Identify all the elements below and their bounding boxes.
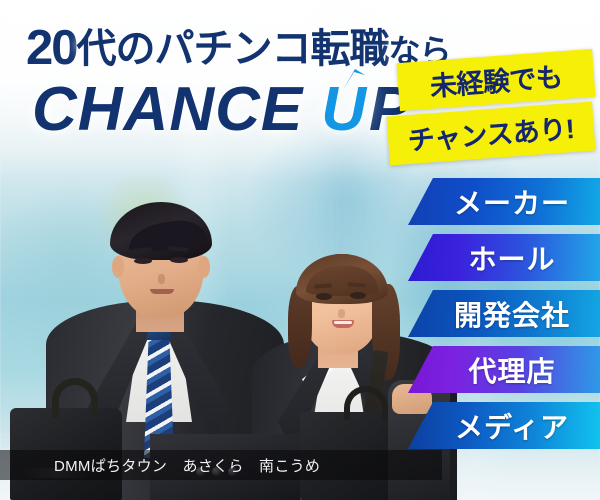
man-eye-left	[134, 258, 152, 264]
man-ear-left	[112, 256, 124, 278]
callout-badges: 未経験でも チャンスあり!	[388, 56, 594, 158]
woman-teeth	[334, 321, 352, 324]
headline: 20代のパチンコ転職なら	[26, 16, 451, 76]
logo-letter-u-group: U	[321, 74, 367, 145]
chance-up-recruitment-banner[interactable]: 20代のパチンコ転職なら CHANCE U P 未経験でも チャンスあり! メー…	[0, 0, 600, 500]
business-bag-left-handle	[52, 378, 98, 418]
category-label: メディア	[455, 406, 569, 446]
woman-eye-left	[316, 293, 332, 300]
logo-letter-u: U	[321, 75, 367, 144]
woman-eye-right	[350, 292, 366, 299]
category-label: 開発会社	[454, 294, 570, 334]
category-button-media[interactable]: メディア	[408, 402, 600, 449]
headline-number: 20	[26, 21, 77, 75]
category-button-hall[interactable]: ホール	[408, 234, 600, 281]
credit-text: DMMぱちタウン あさくら 南こうめ	[0, 455, 320, 476]
category-label: ホール	[468, 238, 555, 278]
job-category-list: メーカー ホール 開発会社 代理店 メディア	[408, 178, 600, 449]
man-mouth	[150, 289, 174, 294]
category-label: 代理店	[468, 350, 555, 390]
category-button-maker[interactable]: メーカー	[408, 178, 600, 225]
man-ear-right	[198, 256, 210, 278]
credit-bar: DMMぱちタウン あさくら 南こうめ	[0, 450, 442, 480]
woman-nose	[338, 309, 345, 318]
chance-up-logotype: CHANCE U P	[32, 74, 411, 145]
headline-main-text: 代のパチンコ転職	[77, 27, 389, 71]
logo-word-chance: CHANCE	[32, 74, 303, 145]
callout-badge-line-2: チャンスあり!	[386, 102, 595, 166]
category-label: メーカー	[454, 182, 570, 222]
category-button-development-company[interactable]: 開発会社	[408, 290, 600, 337]
callout-badge-line-1: 未経験でも	[397, 49, 596, 111]
man-nose	[158, 274, 165, 284]
category-button-agency[interactable]: 代理店	[408, 346, 600, 393]
man-eye-right	[170, 257, 188, 263]
